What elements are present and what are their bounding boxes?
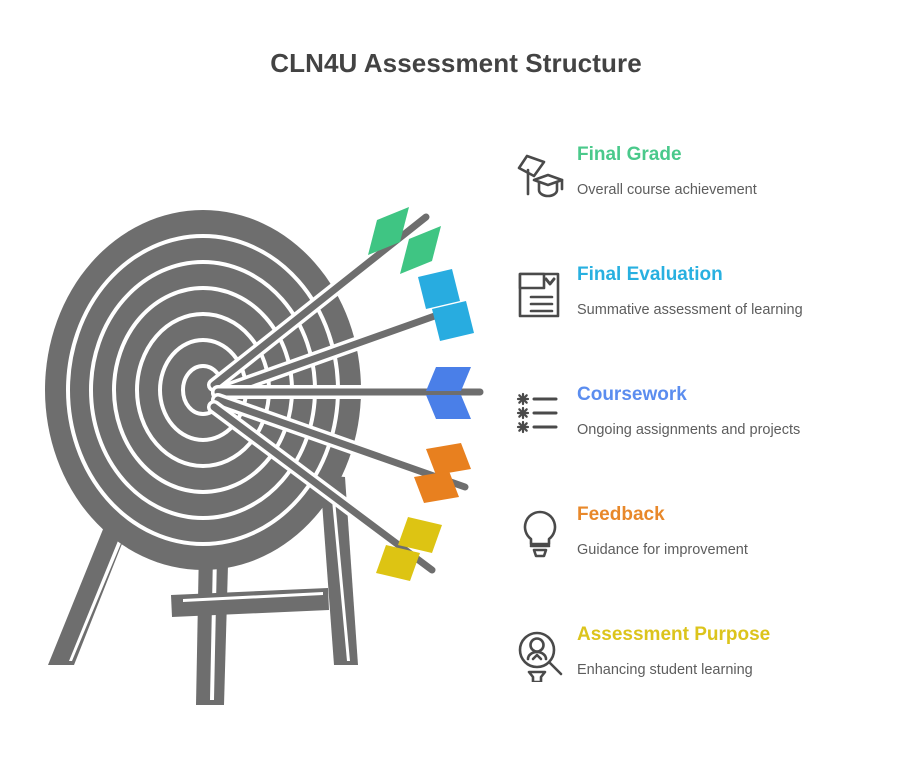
page-title: CLN4U Assessment Structure — [0, 48, 912, 79]
lightbulb-icon — [514, 506, 566, 562]
legend-list: Final Grade Overall course achievement F… — [508, 138, 898, 738]
legend-item-feedback[interactable]: Feedback Guidance for improvement — [508, 498, 898, 618]
legend-item-title: Coursework — [577, 382, 897, 408]
legend-item-title: Feedback — [577, 502, 897, 528]
document-dropdown-icon — [514, 266, 566, 322]
legend-item-final-grade[interactable]: Final Grade Overall course achievement — [508, 138, 898, 258]
legend-item-title: Final Grade — [577, 142, 897, 168]
legend-item-description: Guidance for improvement — [577, 539, 897, 561]
legend-item-description: Enhancing student learning — [577, 659, 897, 681]
flag-graduation-cap-icon — [514, 146, 566, 202]
legend-item-assessment-purpose[interactable]: Assessment Purpose Enhancing student lea… — [508, 618, 898, 738]
magnifier-person-icon — [514, 626, 566, 682]
infographic-page: CLN4U Assessment Structure — [0, 0, 912, 780]
legend-item-title: Assessment Purpose — [577, 622, 897, 648]
legend-item-description: Summative assessment of learning — [577, 299, 897, 321]
legend-item-description: Overall course achievement — [577, 179, 897, 201]
legend-item-description: Ongoing assignments and projects — [577, 419, 897, 441]
archery-target-illustration — [28, 195, 508, 725]
fletching-cyan-2 — [432, 301, 474, 341]
legend-item-coursework[interactable]: Coursework Ongoing assignments and proje… — [508, 378, 898, 498]
legend-item-title: Final Evaluation — [577, 262, 897, 288]
legend-item-final-evaluation[interactable]: Final Evaluation Summative assessment of… — [508, 258, 898, 378]
asterisk-list-icon — [514, 386, 566, 442]
